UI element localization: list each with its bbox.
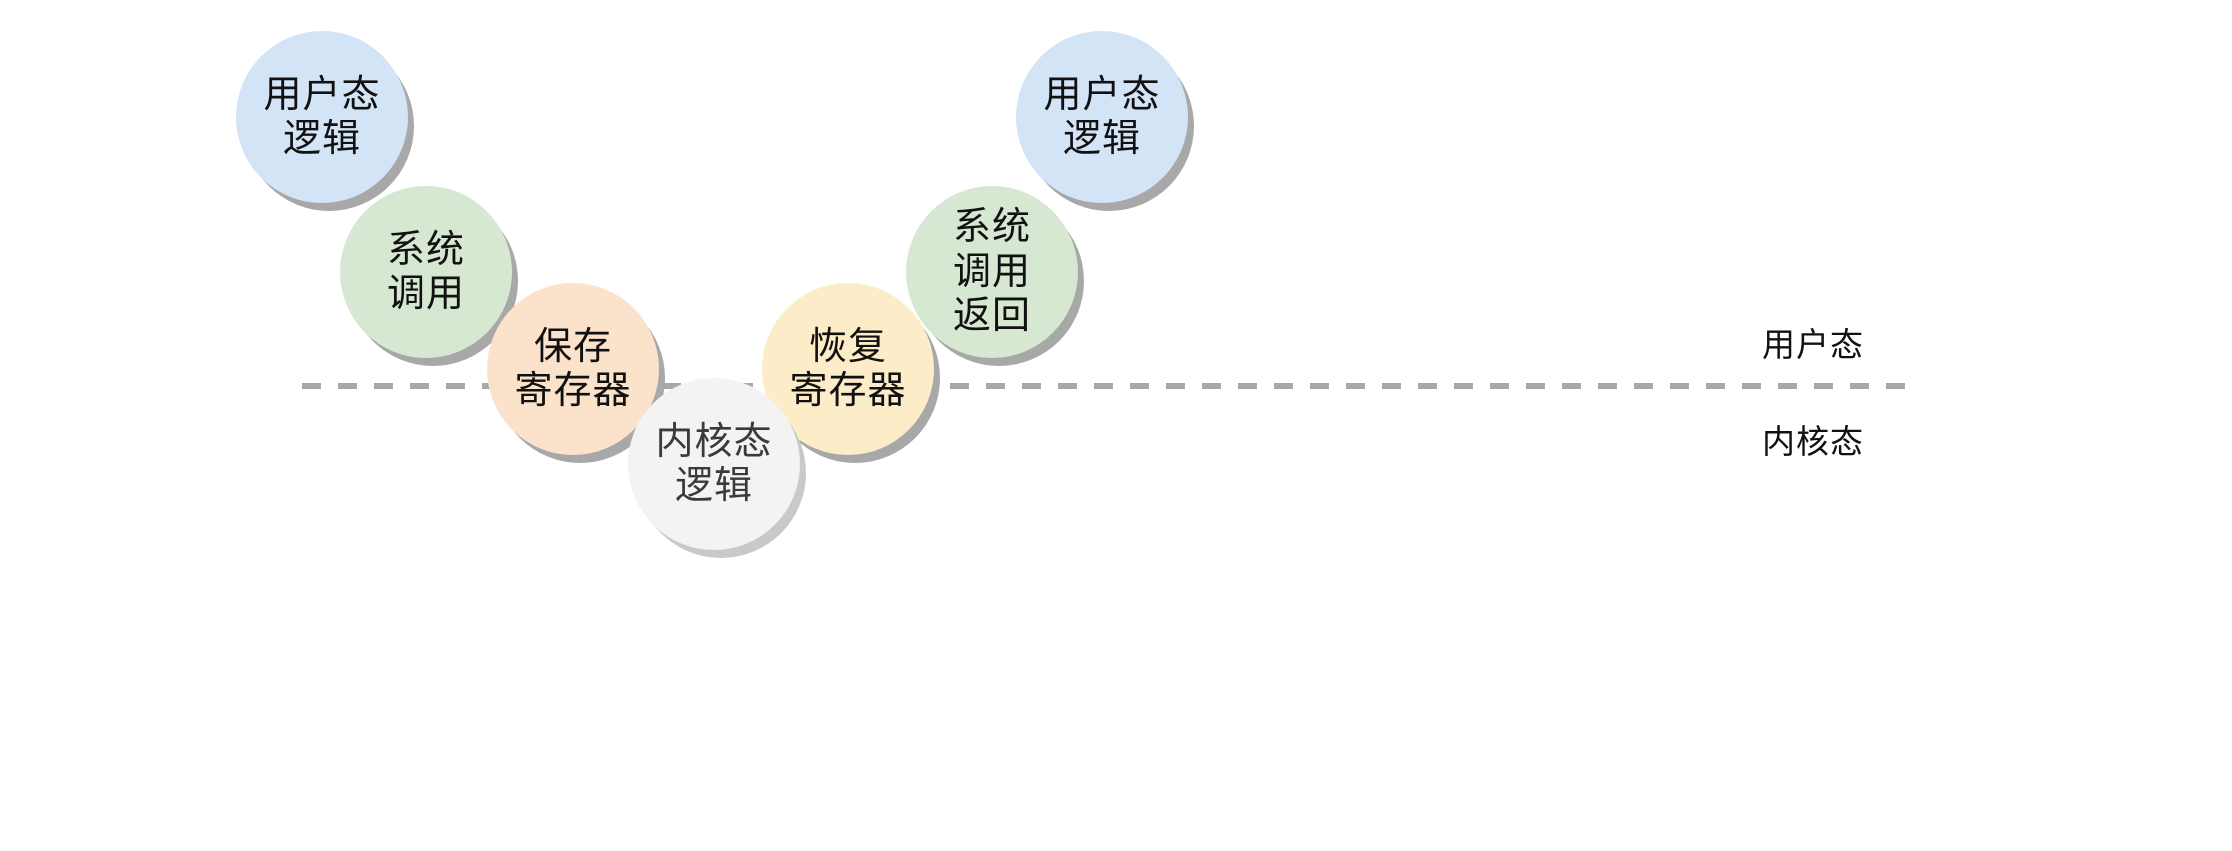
label-user-mode: 用户态 [1762, 318, 1864, 366]
node-syscall[interactable]: 系统 调用 [340, 186, 512, 358]
node-save-registers[interactable]: 保存 寄存器 [487, 283, 659, 455]
node-syscall-label: 系统 调用 [387, 228, 465, 317]
node-save-registers-label: 保存 寄存器 [514, 325, 631, 414]
label-kernel-mode: 内核态 [1762, 415, 1864, 463]
node-user-logic-right[interactable]: 用户态 逻辑 [1016, 31, 1188, 203]
node-user-logic-left-label: 用户态 逻辑 [263, 73, 380, 162]
node-user-logic-left[interactable]: 用户态 逻辑 [236, 31, 408, 203]
node-restore-registers-label: 恢复 寄存器 [789, 325, 906, 414]
node-kernel-logic-label: 内核态 逻辑 [655, 420, 772, 509]
node-syscall-return-label: 系统 调用 返回 [953, 205, 1031, 338]
diagram-canvas: 用户态 逻辑 系统 调用 保存 寄存器 内核态 逻辑 恢复 寄存器 系统 调用 … [0, 0, 2232, 851]
node-user-logic-right-label: 用户态 逻辑 [1043, 73, 1160, 162]
node-syscall-return[interactable]: 系统 调用 返回 [906, 186, 1078, 358]
node-kernel-logic[interactable]: 内核态 逻辑 [628, 378, 800, 550]
